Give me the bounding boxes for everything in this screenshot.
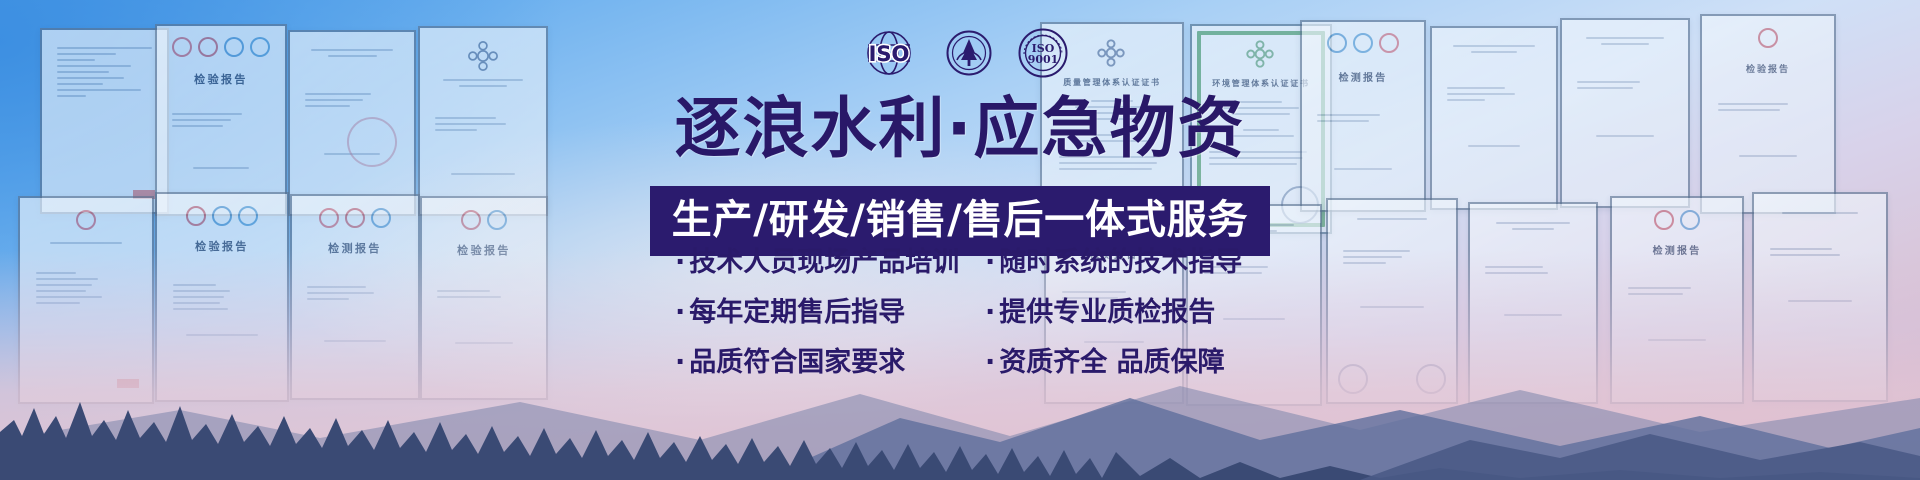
promo-banner: 检验报告 [0,0,1920,480]
bullet-dot-icon: · [985,346,995,380]
bullet-dot-icon: · [985,296,995,330]
bullet-dot-icon: · [675,246,685,280]
list-item-label: 每年定期售后指导 [689,296,905,330]
page-title: 逐浪水利·应急物资 [0,96,1920,162]
svg-text:9001: 9001 [1028,53,1059,66]
list-item-label: 技术人员现场产品培训 [689,246,959,280]
list-item: · 每年定期售后指导 [675,296,975,330]
list-item-label: 品质符合国家要求 [689,346,905,380]
iso-9001-seal-logo: ISO 9001 [1018,28,1068,78]
iso-14000-seal-logo [946,30,992,76]
list-item: · 资质齐全 品质保障 [985,346,1245,380]
feature-list: · 技术人员现场产品培训 · 随时系统的技术指导 · 每年定期售后指导 · 提供… [0,246,1920,379]
list-item-label: 随时系统的技术指导 [999,246,1242,280]
list-item: · 随时系统的技术指导 [985,246,1245,280]
bullet-dot-icon: · [675,296,685,330]
svg-text:ISO: ISO [869,42,910,66]
certification-logo-row: ISO ISO ISO [858,28,1068,78]
bullet-dot-icon: · [675,346,685,380]
iso-globe-logo: ISO ISO [858,30,920,76]
list-item-label: 资质齐全 品质保障 [999,346,1224,380]
list-item: · 技术人员现场产品培训 [675,246,975,280]
banner-content: ISO ISO ISO [0,0,1920,480]
bullet-dot-icon: · [985,246,995,280]
list-item-label: 提供专业质检报告 [999,296,1215,330]
list-item: · 品质符合国家要求 [675,346,975,380]
list-item: · 提供专业质检报告 [985,296,1245,330]
